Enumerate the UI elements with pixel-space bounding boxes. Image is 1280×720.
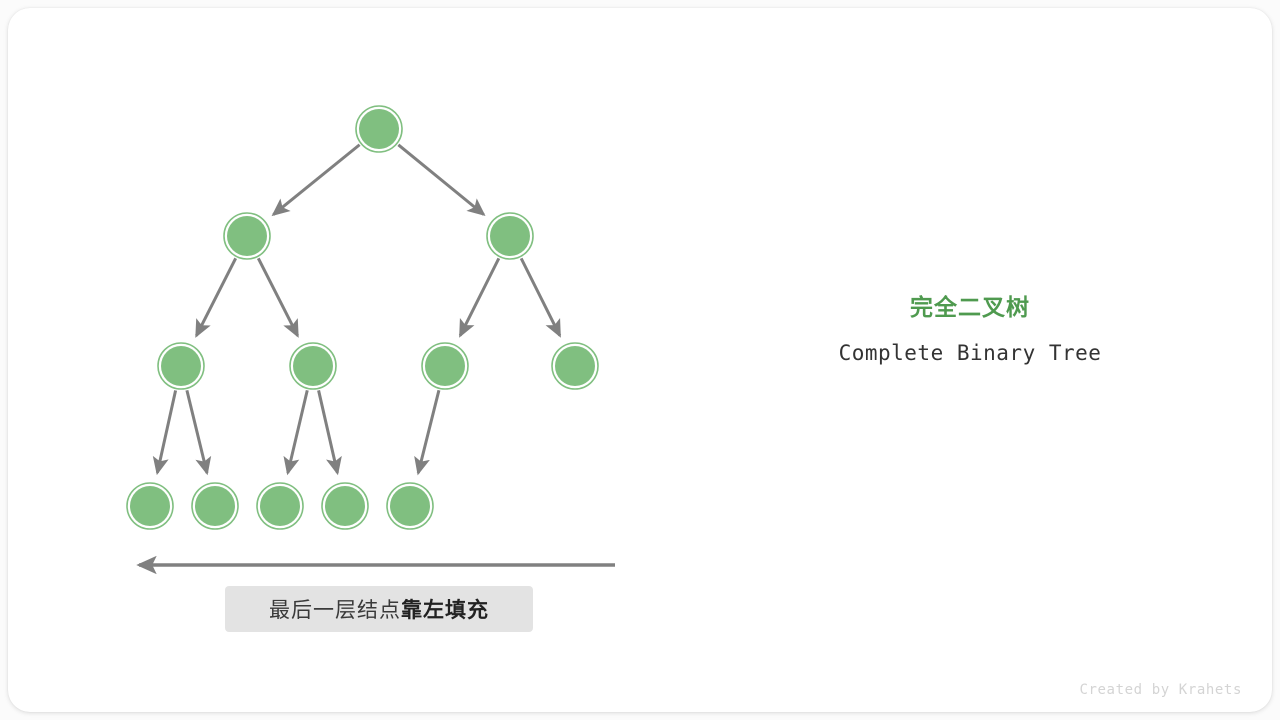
badge-label-normal: 最后一层结点 xyxy=(269,599,401,622)
node-fill xyxy=(195,486,235,526)
node-fill xyxy=(390,486,430,526)
tree-edge xyxy=(157,390,175,472)
node-fill xyxy=(130,486,170,526)
tree-node xyxy=(192,483,238,529)
tree-node xyxy=(356,106,402,152)
page-subtitle: Complete Binary Tree xyxy=(760,340,1180,366)
tree-edge-layer xyxy=(157,145,559,473)
tree-node xyxy=(158,343,204,389)
tree-node xyxy=(127,483,173,529)
tree-edge xyxy=(187,390,207,473)
tree-edge xyxy=(273,145,359,215)
tree-edge xyxy=(258,258,297,335)
tree-node xyxy=(257,483,303,529)
badge-label: 最后一层结点靠左填充 xyxy=(269,594,489,624)
credit-text: Created by Krahets xyxy=(1079,682,1242,698)
tree-node xyxy=(387,483,433,529)
node-fill xyxy=(490,216,530,256)
tree-node xyxy=(224,213,270,259)
caption-block: 完全二叉树 Complete Binary Tree xyxy=(760,292,1180,366)
tree-node-layer xyxy=(127,106,598,529)
status-badge: 最后一层结点靠左填充 xyxy=(225,586,533,632)
node-fill xyxy=(359,109,399,149)
page-title: 完全二叉树 xyxy=(760,292,1180,322)
tree-edge xyxy=(196,258,235,335)
tree-node xyxy=(487,213,533,259)
tree-node xyxy=(422,343,468,389)
node-fill xyxy=(260,486,300,526)
tree-node xyxy=(322,483,368,529)
tree-node xyxy=(290,343,336,389)
node-fill xyxy=(425,346,465,386)
tree-node xyxy=(552,343,598,389)
tree-edge xyxy=(288,390,307,473)
tree-edge xyxy=(521,258,560,335)
node-fill xyxy=(227,216,267,256)
node-fill xyxy=(293,346,333,386)
badge-label-emphasis: 靠左填充 xyxy=(401,599,489,622)
diagram-canvas: 完全二叉树 Complete Binary Tree 最后一层结点靠左填充 Cr… xyxy=(0,0,1280,720)
node-fill xyxy=(555,346,595,386)
node-fill xyxy=(161,346,201,386)
tree-edge xyxy=(418,390,439,473)
tree-edge xyxy=(319,390,338,472)
tree-edge xyxy=(460,258,499,335)
tree-edge xyxy=(398,145,483,215)
node-fill xyxy=(325,486,365,526)
